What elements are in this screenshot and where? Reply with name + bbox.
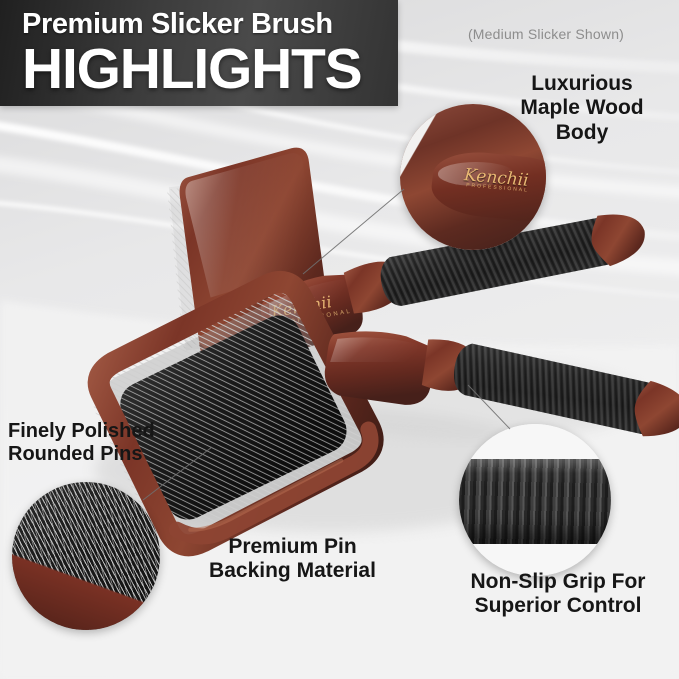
product-size-caption: (Medium Slicker Shown) [441, 26, 651, 42]
callout-label-non-slip-grip-line2: Superior Control [437, 594, 679, 618]
header-banner: Premium Slicker Brush HIGHLIGHTS [0, 0, 398, 106]
banner-title: HIGHLIGHTS [22, 38, 398, 100]
infographic-canvas: Kenchii PROFESSIONAL [0, 0, 679, 679]
callout-label-maple-wood: Luxurious Maple Wood Body [492, 72, 672, 145]
callout-label-rounded-pins-line2: Rounded Pins [8, 443, 188, 466]
pin-closeup-texture [12, 482, 160, 630]
callout-label-pin-backing-line2: Backing Material [185, 559, 400, 583]
zoom-circle-non-slip-grip [459, 424, 611, 576]
zoom-circle-rounded-pins [12, 482, 160, 630]
callout-label-rounded-pins-line1: Finely Polished [8, 420, 188, 443]
callout-label-pin-backing: Premium Pin Backing Material [185, 535, 400, 584]
callout-label-maple-wood-line2: Maple Wood [492, 96, 672, 120]
rubber-rib-highlight [459, 459, 611, 473]
callout-label-rounded-pins: Finely Polished Rounded Pins [8, 420, 188, 466]
callout-label-pin-backing-line1: Premium Pin [185, 535, 400, 559]
callout-label-non-slip-grip-line1: Non-Slip Grip For [437, 570, 679, 594]
callout-label-maple-wood-line1: Luxurious [492, 72, 672, 96]
callout-label-maple-wood-line3: Body [492, 121, 672, 145]
callout-label-non-slip-grip: Non-Slip Grip For Superior Control [437, 570, 679, 619]
